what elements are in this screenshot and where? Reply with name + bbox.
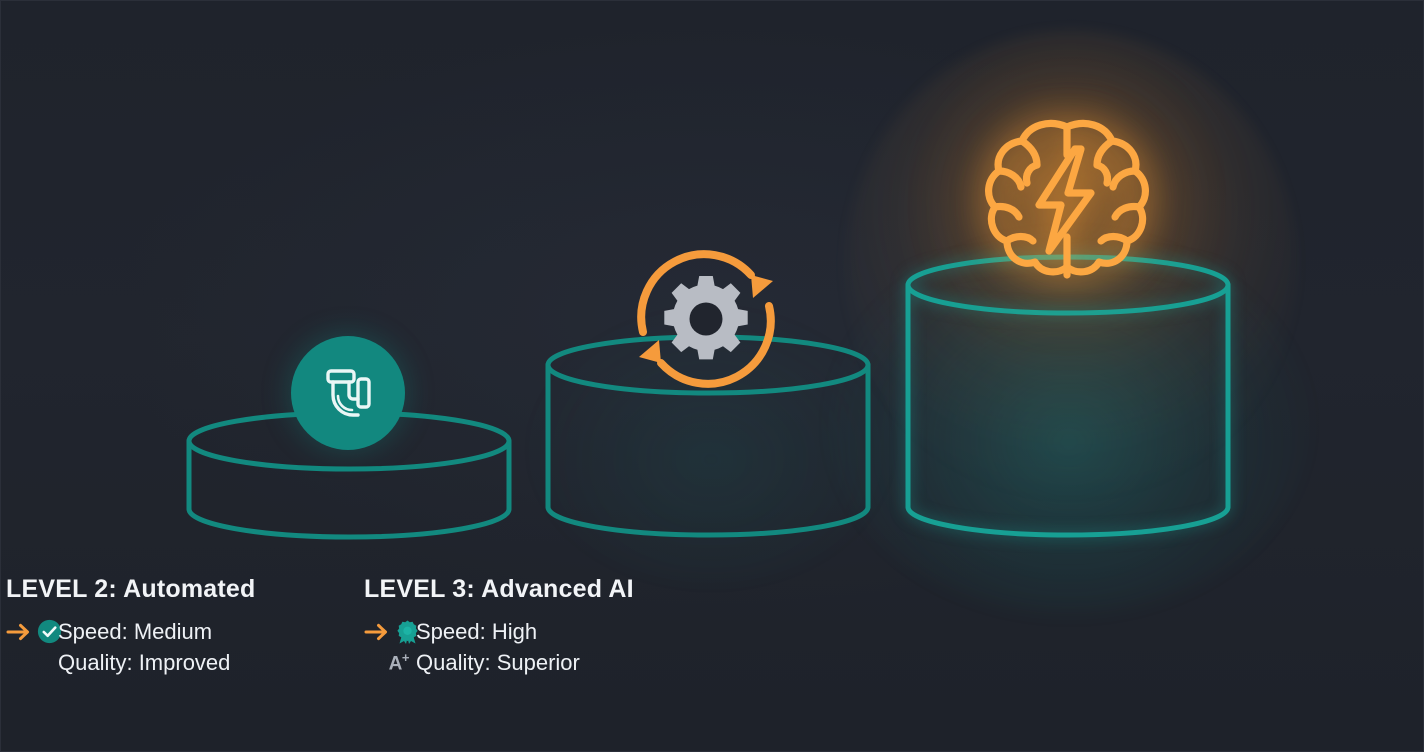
level-3-pedestal	[898, 259, 1238, 554]
metric-row: Quality: Improved	[6, 647, 230, 678]
metric-icons	[364, 619, 416, 645]
gear-refresh-icon	[623, 246, 789, 392]
brain-lightning-icon	[979, 105, 1155, 281]
grade-letter: A+	[389, 650, 409, 675]
pipe-elbow-icon	[317, 362, 379, 424]
metric-row: Speed: Medium	[6, 616, 230, 647]
metric-label: Speed: Medium	[58, 621, 212, 643]
metric-icons	[6, 619, 58, 645]
gear-icon	[664, 276, 747, 359]
arrow-right-icon	[6, 622, 32, 642]
metric-label: Quality: Improved	[58, 652, 230, 674]
metric-row: Speed: High	[364, 616, 580, 647]
level-2-stage-icon[interactable]	[623, 246, 789, 392]
metric-label: Speed: High	[416, 621, 537, 643]
arrow-right-icon	[364, 622, 390, 642]
level-2-metrics: Speed: Medium Quality: Improved	[6, 616, 230, 678]
level-1-stage-badge[interactable]	[291, 336, 405, 450]
grade-a-plus-badge: A+	[364, 650, 416, 676]
diagram-canvas: LEVEL 1: Basic	[0, 0, 1424, 752]
metric-icons-empty	[6, 650, 58, 676]
level-3-stage-icon[interactable]	[979, 105, 1155, 281]
metric-row: A+ Quality: Superior	[364, 647, 580, 678]
level-3-metrics: Speed: High A+ Quality: Superior	[364, 616, 580, 678]
metric-label: Quality: Superior	[416, 652, 580, 674]
